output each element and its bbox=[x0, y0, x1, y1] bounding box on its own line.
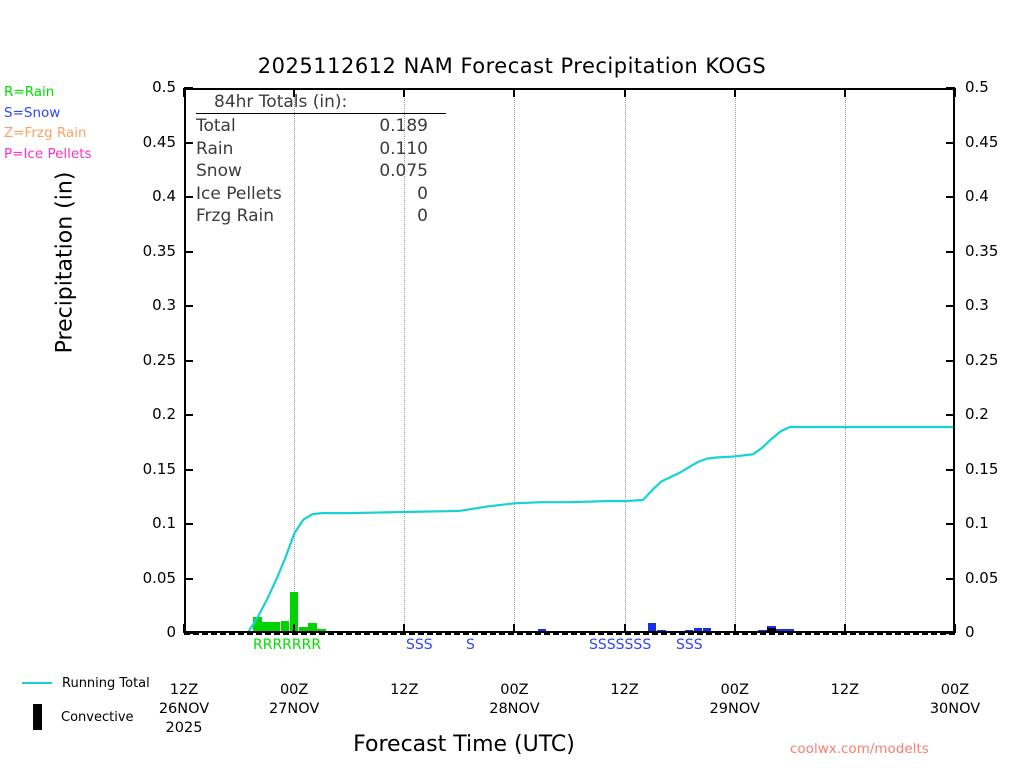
convective-swatch-icon bbox=[33, 704, 42, 730]
rain-letters-27nov: RRRRRRR bbox=[253, 637, 321, 653]
series-legend: Running TotalConvective bbox=[14, 666, 189, 734]
x-axis-title: Forecast Time (UTC) bbox=[184, 732, 744, 757]
watermark: coolwx.com/modelts bbox=[790, 741, 929, 757]
snow-letter-isolated: S bbox=[466, 637, 475, 653]
legend-label-0: Running Total bbox=[62, 676, 150, 691]
snow-letters-12z27nov: SSS bbox=[406, 637, 433, 653]
precip-type-letters: RRRRRRRSSSSSSSSSSSSSS bbox=[0, 0, 1024, 768]
legend-row-1: Convective bbox=[14, 700, 189, 734]
snow-letters-28nov: SSSSSSS bbox=[589, 637, 651, 653]
running-total-line-icon bbox=[22, 682, 52, 684]
legend-row-0: Running Total bbox=[14, 666, 189, 700]
snow-letters-29nov: SSS bbox=[676, 637, 703, 653]
legend-label-1: Convective bbox=[61, 710, 134, 725]
